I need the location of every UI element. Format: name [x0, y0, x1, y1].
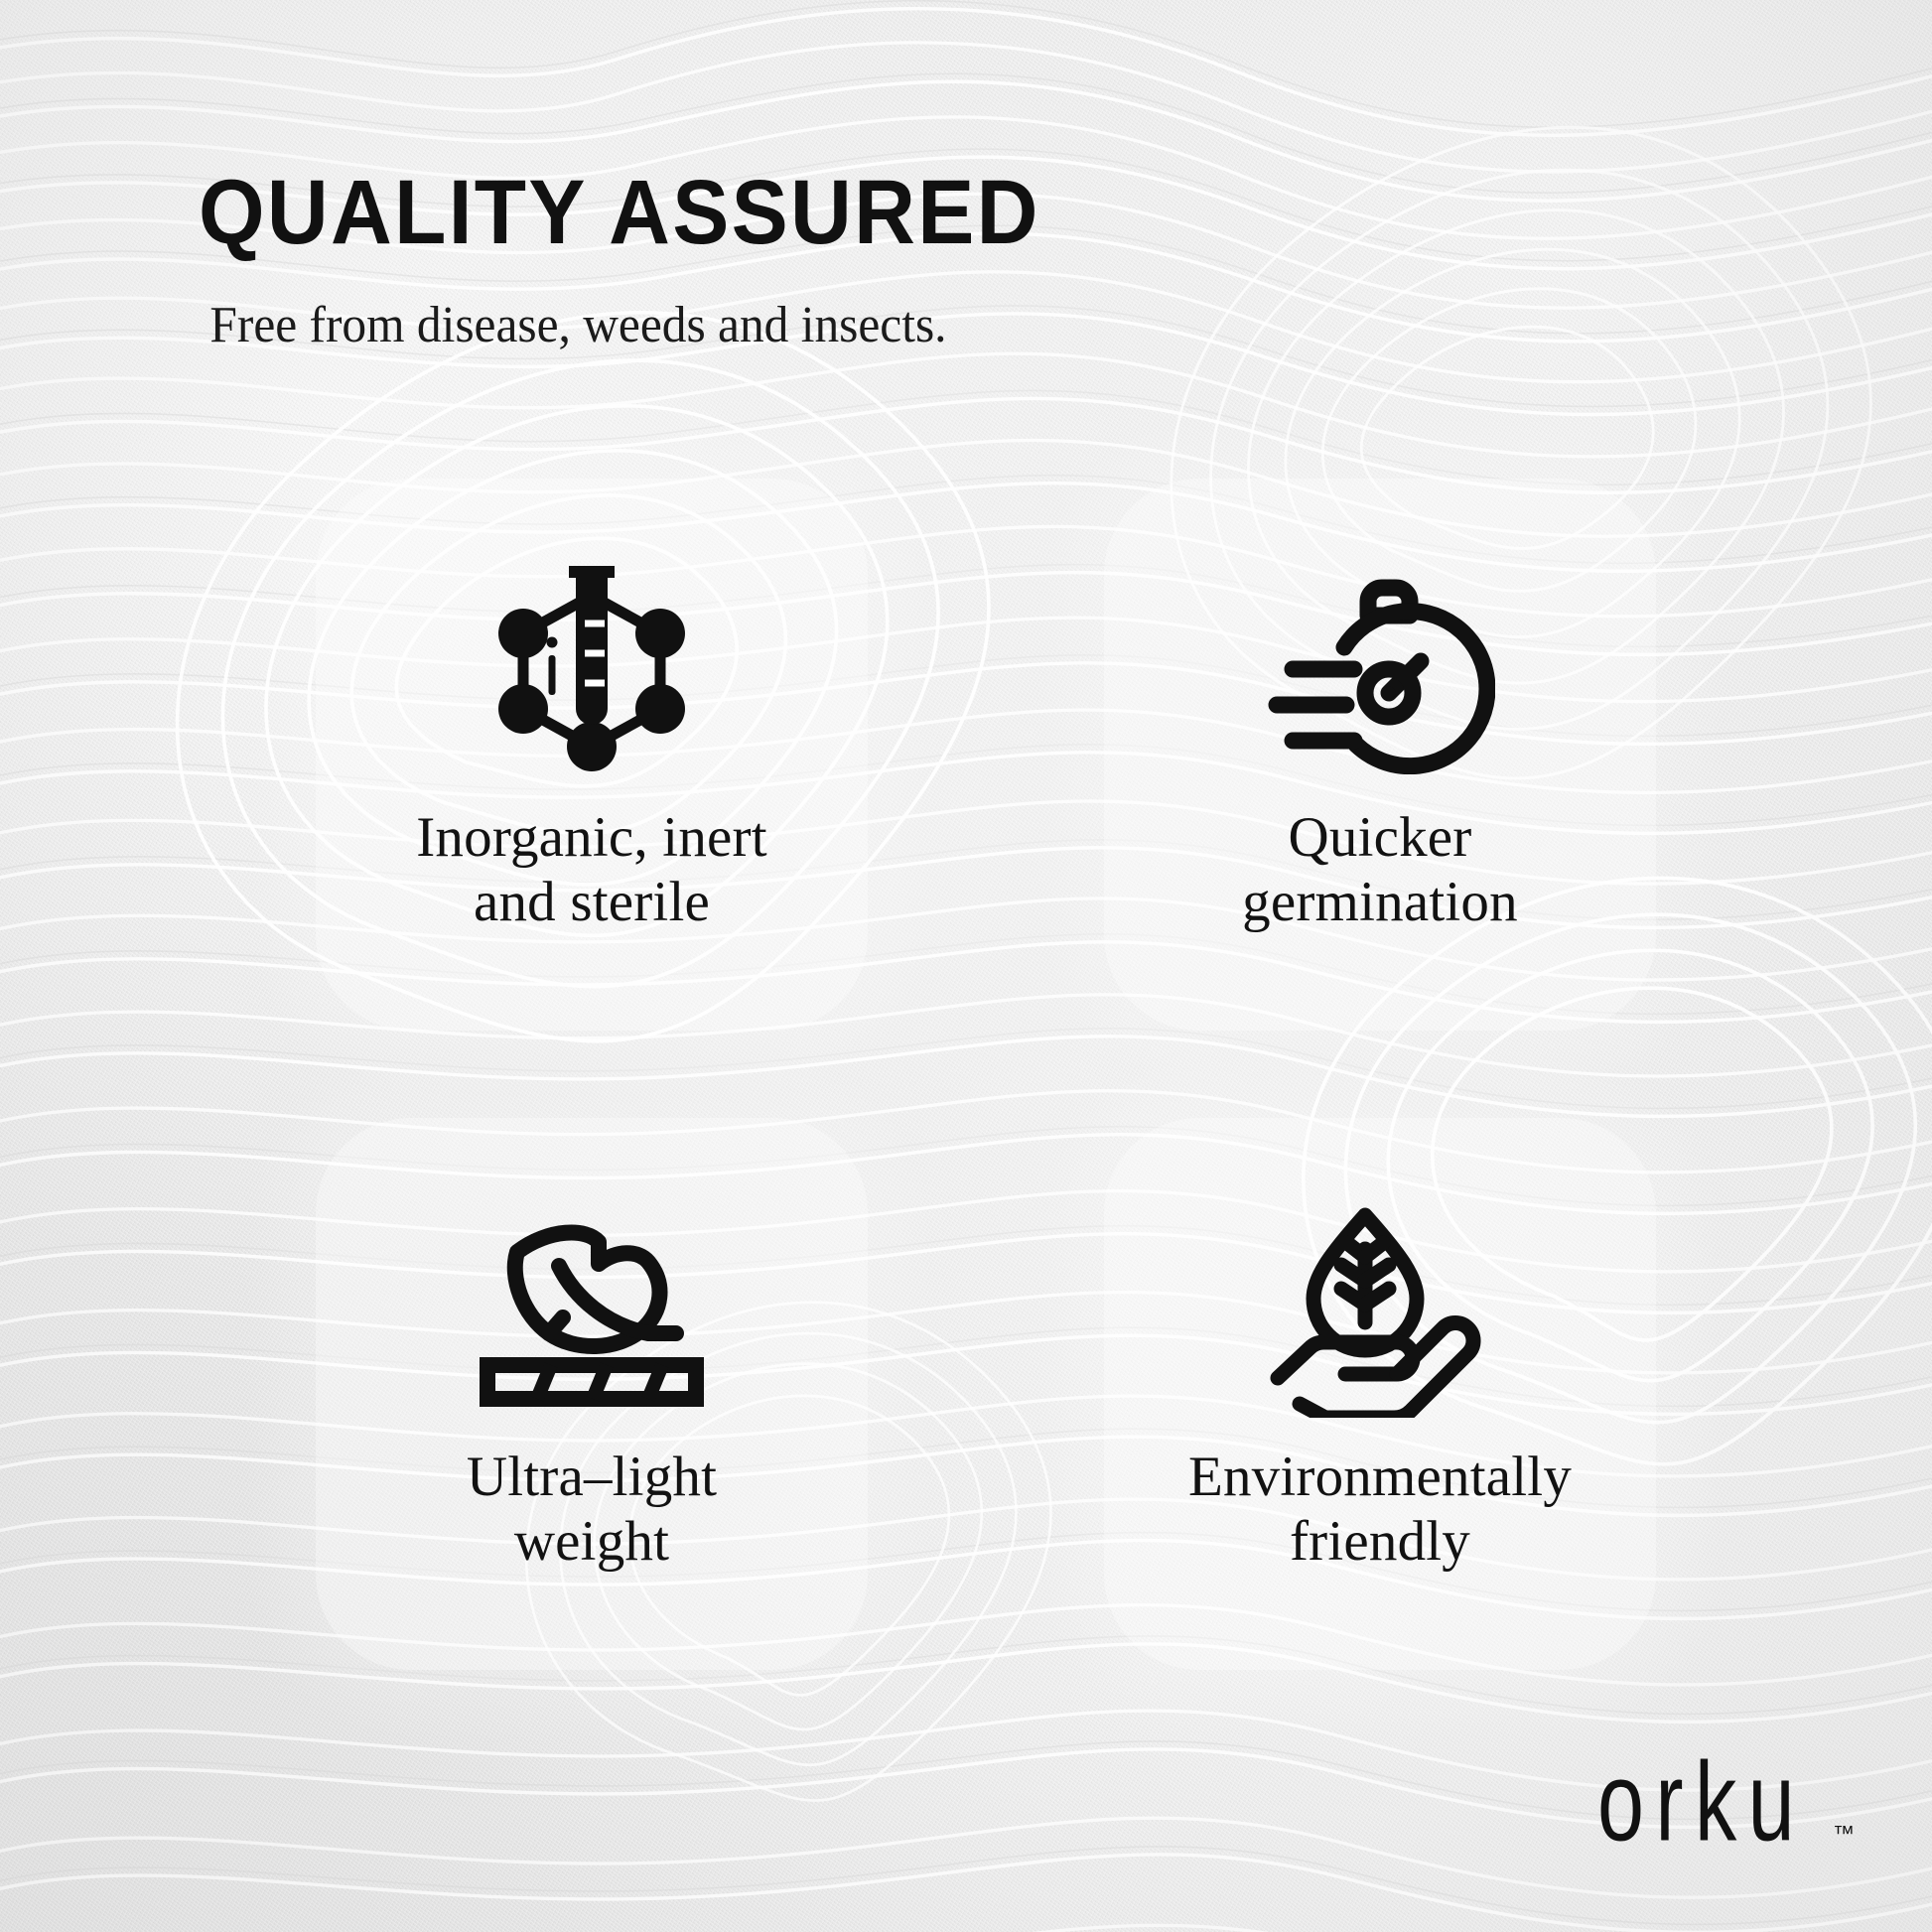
feature-card-germination[interactable]: Quicker germination [1104, 479, 1656, 1031]
page-subtitle: Free from disease, weeds and insects. [199, 258, 1425, 351]
feature-card-label: Environmentally friendly [1188, 1446, 1572, 1575]
leaf-in-hand-icon [1270, 1195, 1490, 1424]
page-title: QUALITY ASSURED [199, 167, 1399, 258]
feather-on-substrate-icon [472, 1195, 712, 1424]
brand-logo-wordmark: orku [1597, 1748, 1806, 1857]
molecule-test-tube-icon [489, 556, 694, 784]
promo-graphic: QUALITY ASSURED Free from disease, weeds… [0, 0, 1932, 1932]
header: QUALITY ASSURED Free from disease, weeds… [199, 167, 1489, 351]
feature-card-label: Inorganic, inert and sterile [416, 806, 767, 935]
feature-card-inorganic[interactable]: Inorganic, inert and sterile [316, 479, 868, 1031]
feature-card-eco-friendly[interactable]: Environmentally friendly [1104, 1118, 1656, 1670]
feature-card-label: Ultra–light weight [467, 1446, 717, 1575]
feature-card-lightweight[interactable]: Ultra–light weight [316, 1118, 868, 1670]
stopwatch-speed-icon [1265, 556, 1495, 784]
feature-card-grid: Inorganic, inert and sterile [0, 479, 1932, 1620]
brand-logo: orku ™ [1597, 1765, 1855, 1857]
feature-card-label: Quicker germination [1242, 806, 1518, 935]
trademark-symbol: ™ [1833, 1821, 1855, 1847]
